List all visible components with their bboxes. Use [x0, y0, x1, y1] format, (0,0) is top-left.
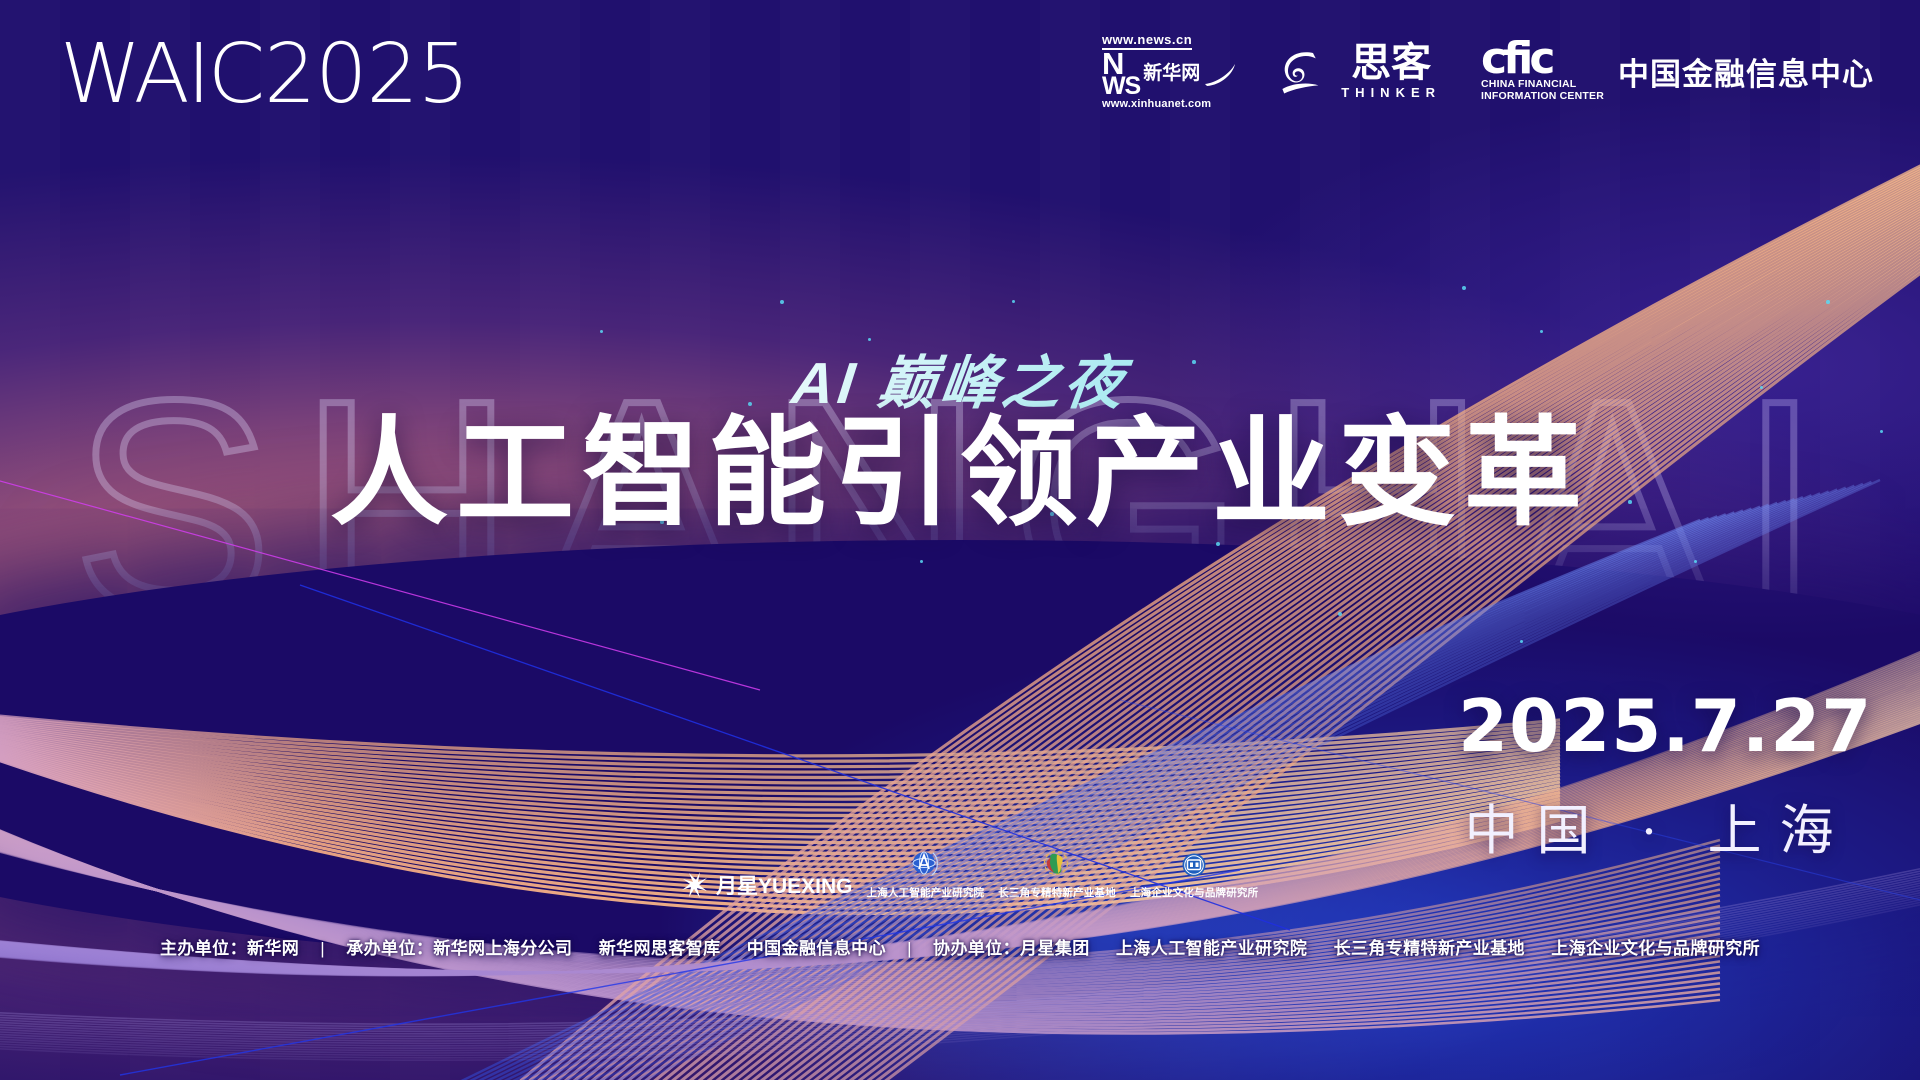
thinker-logo: 思客 THINKER	[1277, 43, 1441, 100]
credit-organizer: 承办单位：新华网上海分公司	[346, 939, 572, 958]
header-logo-row: www.news.cn N WS 新华网 www.xinhuanet.com	[1102, 28, 1874, 114]
partner-logo-secbi: 上海企业文化与品牌研究所	[1130, 850, 1258, 900]
sparkle-dot	[1462, 286, 1466, 290]
secbi-label: 上海企业文化与品牌研究所	[1130, 885, 1258, 900]
thinker-cn-text: 思客	[1351, 43, 1431, 83]
credit-organizer-3: 中国金融信息中心	[747, 939, 886, 958]
cfic-logo: cfic CHINA FINANCIAL INFORMATION CENTER …	[1481, 39, 1874, 103]
credit-separator-1: |	[304, 939, 341, 959]
sparkle-dot	[1216, 542, 1220, 546]
yuexing-star-icon	[680, 870, 710, 900]
credit-coorganizer-2: 上海人工智能产业研究院	[1116, 939, 1307, 958]
globe-ai-icon	[908, 848, 942, 882]
wave-lines-left	[0, 0, 1920, 1080]
cfic-sub-line2: INFORMATION CENTER	[1481, 91, 1604, 103]
xinhua-mark-cn: 新华网	[1143, 64, 1200, 84]
waic-logo-text: WAIC	[60, 34, 262, 116]
credit-host: 主办单位：新华网	[160, 939, 299, 958]
sparkle-dot	[1826, 300, 1830, 304]
xinhua-url-bottom: www.xinhuanet.com	[1102, 98, 1211, 110]
sparkle-dot	[600, 330, 603, 333]
xinhua-logo: www.news.cn N WS 新华网 www.xinhuanet.com	[1102, 32, 1237, 110]
yrd-base-label: 长三角专精特新产业基地	[998, 885, 1116, 900]
credits-bar: 主办单位：新华网 | 承办单位：新华网上海分公司 新华网思客智库 中国金融信息中…	[0, 934, 1920, 959]
credit-separator-2: |	[891, 939, 928, 959]
xinhua-swoosh-icon	[1203, 61, 1237, 87]
xinhua-mark-ws: WS	[1102, 76, 1140, 97]
poster-canvas: SHANGHAI	[0, 0, 1920, 1080]
cfic-mark-text: cfic	[1481, 39, 1604, 79]
credit-coorganizer-4: 上海企业文化与品牌研究所	[1551, 939, 1760, 958]
partner-logo-yuexing: 月星YUEXING	[680, 870, 853, 900]
partner-logo-strip: 月星YUEXING 上海人工智能产业研究院	[680, 838, 1240, 900]
waic-logo: WAIC 2025	[60, 34, 469, 116]
event-title: 人工智能引领产业变革	[0, 415, 1920, 533]
partner-logo-saii: 上海人工智能产业研究院	[867, 848, 985, 900]
sparkle-dot	[780, 300, 784, 304]
cfic-cn-text: 中国金融信息中心	[1618, 49, 1874, 94]
thinker-swirl-icon	[1277, 44, 1331, 98]
thinker-en-text: THINKER	[1341, 85, 1441, 100]
seal-badge-icon	[1178, 850, 1210, 882]
event-date: 2025.7.27	[1458, 690, 1858, 762]
partner-logo-yrd-base: 长三角专精特新产业基地	[998, 848, 1116, 900]
event-city: 中国 · 上海	[1458, 786, 1858, 865]
sparkle-dot	[1694, 560, 1697, 563]
credit-coorganizer-3: 长三角专精特新产业基地	[1334, 939, 1525, 958]
poster-header: WAIC 2025 www.news.cn N WS 新华网 www.xinhu…	[0, 0, 1920, 140]
date-location-block: 2025.7.27 中国 · 上海	[1458, 690, 1858, 865]
credit-coorganizer: 协办单位：月星集团	[933, 939, 1090, 958]
sparkle-dot	[1338, 612, 1342, 616]
waic-logo-year: 2025	[264, 34, 469, 116]
yuexing-label: 月星YUEXING	[716, 870, 853, 900]
saii-label: 上海人工智能产业研究院	[867, 885, 985, 900]
colorful-orb-icon	[1040, 848, 1074, 882]
credit-organizer-2: 新华网思客智库	[599, 939, 721, 958]
